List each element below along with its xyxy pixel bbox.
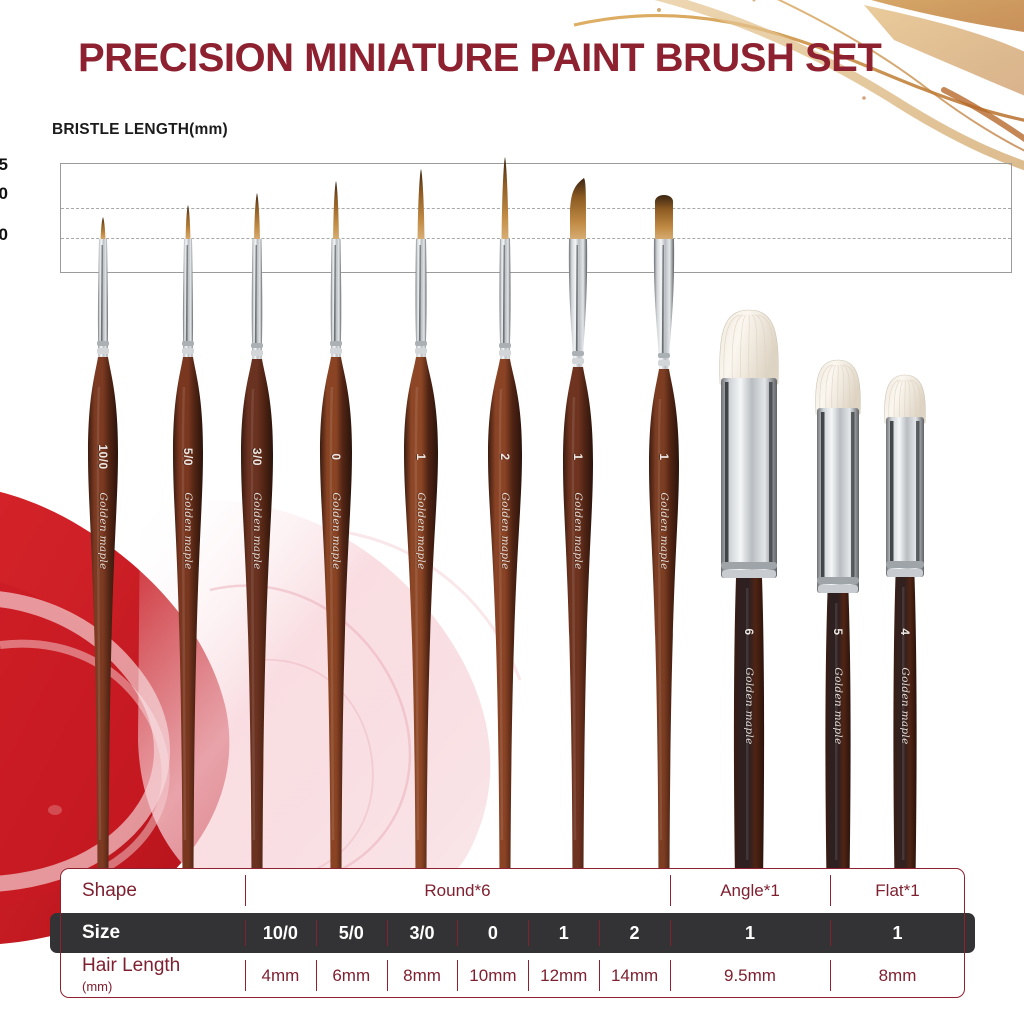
table-cell-hair-3: 10mm	[457, 953, 528, 998]
brush-handle-number-8: 1	[657, 453, 671, 460]
column-divider	[245, 875, 246, 906]
column-divider	[457, 960, 458, 991]
brush-6[interactable]: 2Golden maple	[475, 0, 535, 880]
brush-4[interactable]: 0Golden maple	[306, 0, 366, 880]
column-divider	[599, 960, 600, 991]
table-cell-shape-angle: Angle*1	[670, 868, 830, 913]
brush-graphic-7	[548, 0, 608, 880]
brush-brand-mark-11: Golden maple	[899, 667, 911, 744]
brush-graphic-8	[634, 0, 694, 880]
column-divider	[830, 875, 831, 906]
column-divider	[830, 920, 831, 946]
brush-handle-number-9: 6	[742, 628, 756, 635]
brush-handle-number-11: 4	[898, 628, 912, 635]
table-cell-size-4: 1	[528, 913, 599, 953]
brush-11[interactable]: 4Golden maple	[875, 0, 935, 880]
brush-graphic-9	[719, 0, 779, 880]
table-cell-size-6: 1	[670, 913, 830, 953]
brush-brand-mark-7: Golden maple	[572, 492, 584, 569]
brush-handle-number-1: 10/0	[96, 444, 110, 469]
y-tick-15: 15	[0, 155, 8, 175]
brush-graphic-11	[875, 0, 935, 880]
brush-brand-mark-2: Golden maple	[182, 492, 194, 569]
table-cell-hair-7: 8mm	[830, 953, 965, 998]
column-divider	[670, 960, 671, 991]
table-cell-hair-label: Hair Length(mm)	[60, 953, 245, 998]
table-cell-shape-label: Shape	[60, 868, 245, 913]
brush-7[interactable]: 1Golden maple	[548, 0, 608, 880]
column-divider	[528, 920, 529, 946]
y-tick-0: 0	[0, 225, 8, 245]
brush-9[interactable]: 6Golden maple	[719, 0, 779, 880]
brush-graphic-2	[158, 0, 218, 880]
column-divider	[830, 960, 831, 991]
brush-3[interactable]: 3/0Golden maple	[227, 0, 287, 880]
size-row-pad-left	[50, 913, 60, 953]
brush-handle-number-5: 1	[414, 453, 428, 460]
brush-handle-number-3: 3/0	[250, 448, 264, 466]
brush-handle-number-10: 5	[831, 628, 845, 635]
y-tick-10: 10	[0, 184, 8, 204]
brush-8[interactable]: 1Golden maple	[634, 0, 694, 880]
table-cell-size-label: Size	[60, 913, 245, 953]
table-cell-size-3: 0	[457, 913, 528, 953]
table-cell-hair-4: 12mm	[528, 953, 599, 998]
brush-brand-mark-9: Golden maple	[743, 667, 755, 744]
column-divider	[245, 960, 246, 991]
brush-handle-number-2: 5/0	[181, 448, 195, 466]
column-divider	[599, 920, 600, 946]
specification-table: ShapeRound*6Angle*1Flat*1 Size10/05/03/0…	[60, 868, 965, 998]
brush-5[interactable]: 1Golden maple	[391, 0, 451, 880]
brush-brand-mark-5: Golden maple	[415, 492, 427, 569]
column-divider	[670, 920, 671, 946]
table-cell-size-1: 5/0	[316, 913, 387, 953]
brush-brand-mark-6: Golden maple	[499, 492, 511, 569]
table-cell-size-2: 3/0	[387, 913, 458, 953]
table-cell-shape-round: Round*6	[245, 868, 670, 913]
column-divider	[387, 960, 388, 991]
column-divider	[316, 920, 317, 946]
brush-brand-mark-3: Golden maple	[251, 492, 263, 569]
table-cell-hair-5: 14mm	[599, 953, 670, 998]
brush-brand-mark-8: Golden maple	[658, 492, 670, 569]
table-cell-size-7: 1	[830, 913, 965, 953]
brush-graphic-5	[391, 0, 451, 880]
infographic-canvas: PRECISION MINIATURE PAINT BRUSH SET BRIS…	[0, 0, 1024, 1024]
table-cell-size-0: 10/0	[245, 913, 316, 953]
brush-graphic-4	[306, 0, 366, 880]
brush-graphic-1	[73, 0, 133, 880]
brush-brand-mark-10: Golden maple	[832, 667, 844, 744]
table-cell-hair-2: 8mm	[387, 953, 458, 998]
column-divider	[316, 960, 317, 991]
brush-graphic-3	[227, 0, 287, 880]
brush-2[interactable]: 5/0Golden maple	[158, 0, 218, 880]
brush-10[interactable]: 5Golden maple	[808, 0, 868, 880]
brush-brand-mark-1: Golden maple	[97, 492, 109, 569]
column-divider	[245, 920, 246, 946]
column-divider	[528, 960, 529, 991]
column-divider	[387, 920, 388, 946]
table-cell-hair-6: 9.5mm	[670, 953, 830, 998]
table-cell-hair-0: 4mm	[245, 953, 316, 998]
brush-graphic-10	[808, 0, 868, 880]
table-row-shape: ShapeRound*6Angle*1Flat*1	[60, 868, 965, 913]
brush-handle-number-4: 0	[329, 453, 343, 460]
brush-handle-number-7: 1	[571, 453, 585, 460]
brush-handle-number-6: 2	[498, 453, 512, 460]
brush-1[interactable]: 10/0Golden maple	[73, 0, 133, 880]
column-divider	[457, 920, 458, 946]
table-cell-shape-flat: Flat*1	[830, 868, 965, 913]
table-row-hair-length: Hair Length(mm)4mm6mm8mm10mm12mm14mm9.5m…	[60, 953, 965, 998]
brush-brand-mark-4: Golden maple	[330, 492, 342, 569]
brush-graphic-6	[475, 0, 535, 880]
table-cell-hair-1: 6mm	[316, 953, 387, 998]
table-row-size: Size10/05/03/001211	[50, 913, 975, 953]
table-cell-size-5: 2	[599, 913, 670, 953]
column-divider	[670, 875, 671, 906]
